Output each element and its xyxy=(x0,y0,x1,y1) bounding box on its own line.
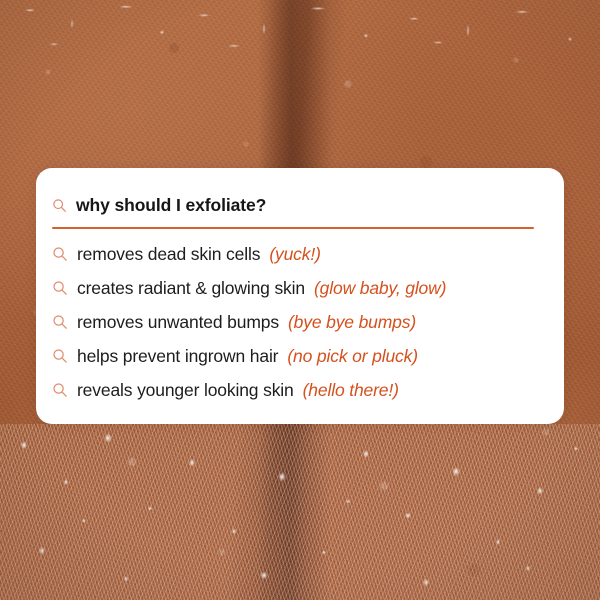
faq-list-item: removes dead skin cells (yuck!) xyxy=(52,237,548,271)
search-icon xyxy=(52,198,67,213)
faq-item-label: reveals younger looking skin xyxy=(77,380,294,401)
water-droplets-top xyxy=(0,0,600,170)
search-icon xyxy=(52,314,68,330)
lather-texture-bottom xyxy=(0,424,600,600)
faq-item-label: removes dead skin cells xyxy=(77,244,260,265)
header-divider xyxy=(52,227,534,229)
faq-list-item: reveals younger looking skin (hello ther… xyxy=(52,373,548,407)
faq-item-label: removes unwanted bumps xyxy=(77,312,279,333)
faq-list-item: creates radiant & glowing skin (glow bab… xyxy=(52,271,548,305)
search-icon xyxy=(52,382,68,398)
water-droplets-bottom xyxy=(0,424,600,600)
search-icon xyxy=(52,348,68,364)
search-icon xyxy=(52,246,68,262)
faq-list-item: removes unwanted bumps (bye bye bumps) xyxy=(52,305,548,339)
faq-header: why should I exfoliate? xyxy=(52,190,548,220)
promo-graphic: why should I exfoliate? removes dead ski… xyxy=(0,0,600,600)
search-icon xyxy=(52,280,68,296)
faq-item-label: creates radiant & glowing skin xyxy=(77,278,305,299)
faq-item-aside: (yuck!) xyxy=(269,244,320,265)
faq-item-aside: (glow baby, glow) xyxy=(314,278,446,299)
faq-item-aside: (bye bye bumps) xyxy=(288,312,416,333)
faq-card: why should I exfoliate? removes dead ski… xyxy=(36,168,564,424)
faq-item-aside: (no pick or pluck) xyxy=(287,346,418,367)
faq-list-item: helps prevent ingrown hair (no pick or p… xyxy=(52,339,548,373)
faq-header-title: why should I exfoliate? xyxy=(76,195,266,216)
faq-item-label: helps prevent ingrown hair xyxy=(77,346,278,367)
faq-item-aside: (hello there!) xyxy=(303,380,399,401)
